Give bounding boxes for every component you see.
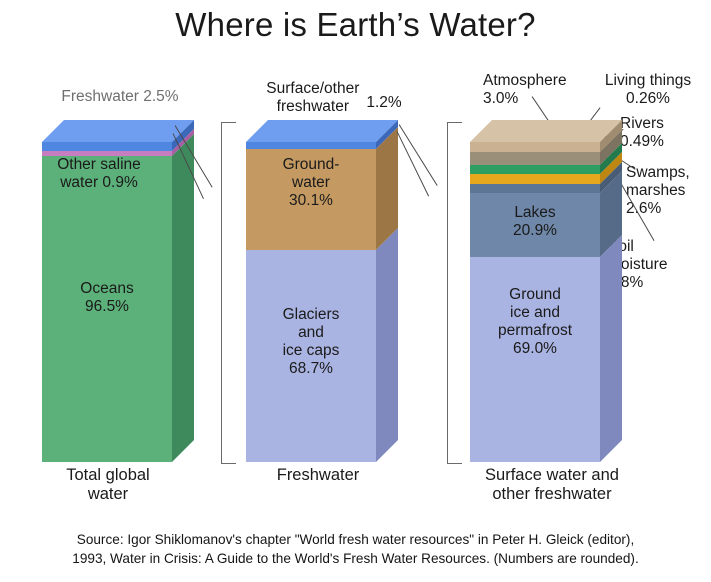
col3-segment-ground-ice-permafrost — [470, 257, 600, 462]
col1-axis-label-wrap: Total global water — [20, 466, 196, 504]
col3-swamps-label: Swamps, marshes 2.6% — [626, 164, 710, 218]
col3-side-faces — [600, 120, 622, 462]
col2-axis-label: Freshwater — [230, 466, 406, 485]
col1-freshwater-callout: Freshwater 2.5% — [30, 88, 210, 106]
col2-segment-surface-other-freshwater — [246, 142, 376, 149]
col3-living-things-label: Living things 0.26% — [592, 72, 704, 108]
col3-segment-swamps-marshes — [470, 184, 600, 193]
col3-axis-label: Surface water and other freshwater — [452, 466, 652, 504]
col3-soil-moisture-callout: Soil moisture 3.8% — [608, 238, 703, 292]
col3-swamps-callout: Swamps, marshes 2.6% — [626, 164, 710, 218]
col2-segment-glaciers-ice-caps — [246, 250, 376, 462]
col1-segment-freshwater — [42, 142, 172, 151]
col3-atmosphere-label: Atmosphere 3.0% — [483, 72, 593, 108]
col2-surface-other-callout: Surface/other freshwater 1.2% — [244, 80, 424, 116]
col2-axis-label-wrap: Freshwater — [230, 466, 406, 485]
col3-rivers-label: Rivers 0.49% — [620, 115, 710, 151]
col2-surface-other-label: Surface/other freshwater — [266, 80, 359, 116]
connector-bracket-2 — [447, 122, 462, 464]
col3-segment-atmosphere — [470, 142, 600, 152]
column-surface-water-other-freshwater: Lakes 20.9% Ground ice and permafrost 69… — [470, 120, 622, 462]
col3-living-things-callout: Living things 0.26% — [592, 72, 704, 108]
col2-segment-groundwater — [246, 149, 376, 250]
source-line-2: 1993, Water in Crisis: A Guide to the Wo… — [0, 549, 711, 568]
source-note: Source: Igor Shiklomanov's chapter "Worl… — [0, 530, 711, 568]
column-freshwater: Ground- water 30.1% Glaciers and ice cap… — [246, 120, 398, 462]
source-line-1: Source: Igor Shiklomanov's chapter "Worl… — [0, 530, 711, 549]
col2-surface-other-value: 1.2% — [366, 85, 401, 112]
column-total-global-water: Other saline water 0.9% Oceans 96.5% — [42, 120, 194, 462]
col1-axis-label: Total global water — [20, 466, 196, 504]
col3-segment-living-things — [470, 165, 600, 174]
col3-rivers-callout: Rivers 0.49% — [620, 115, 710, 151]
col1-freshwater-callout-label: Freshwater 2.5% — [30, 88, 210, 106]
col2-side-faces — [376, 120, 398, 462]
col3-segment-lakes — [470, 193, 600, 257]
col1-segment-oceans — [42, 156, 172, 462]
page-title: Where is Earth’s Water? — [0, 6, 711, 44]
col3-segment-rivers — [470, 174, 600, 184]
col3-atmosphere-callout: Atmosphere 3.0% — [483, 72, 593, 108]
col3-soil-moisture-label: Soil moisture 3.8% — [608, 238, 703, 292]
connector-bracket-1 — [221, 122, 236, 464]
col3-segment-soil-moisture — [470, 152, 600, 165]
col3-axis-label-wrap: Surface water and other freshwater — [452, 466, 652, 504]
